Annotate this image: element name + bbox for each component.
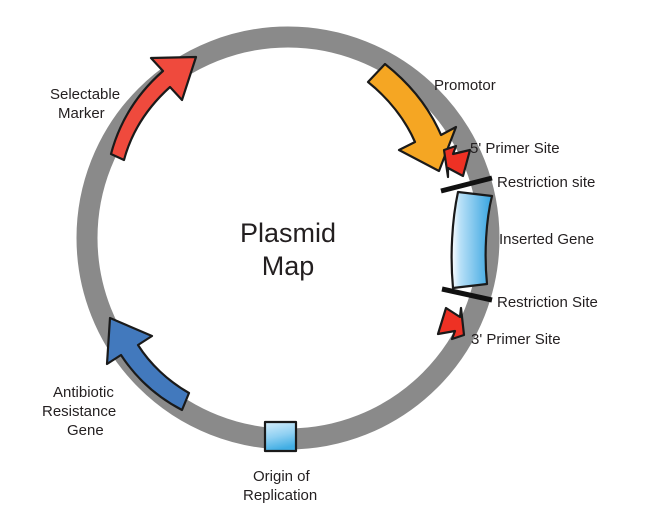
inserted-gene-label: Inserted Gene (499, 231, 594, 248)
plasmid-map-figure: Plasmid Map Selectable Marker Promotor 5… (0, 0, 650, 519)
promotor-label: Promotor (434, 77, 496, 94)
selectable-marker-label-line1: Selectable (50, 86, 120, 103)
selectable-marker-label-line2: Marker (58, 105, 105, 122)
antibiotic-resistance-label-line3: Gene (67, 422, 104, 439)
restriction-site-upper-label: Restriction site (497, 174, 595, 191)
antibiotic-resistance-label-line1: Antibiotic (53, 384, 114, 401)
primer-site-5-label: 5' Primer Site (470, 140, 560, 157)
primer-site-3-label: 3' Primer Site (471, 331, 561, 348)
page-title-line1: Plasmid (240, 218, 336, 248)
restriction-site-lower-label: Restriction Site (497, 294, 598, 311)
origin-of-replication-label-line2: Replication (243, 487, 317, 504)
antibiotic-resistance-label-line2: Resistance (42, 403, 116, 420)
inserted-gene-band[interactable] (452, 192, 492, 288)
page-title-line2: Map (262, 251, 315, 281)
feature-inserted-gene[interactable] (452, 192, 492, 288)
origin-of-replication-label-line1: Origin of (253, 468, 311, 485)
origin-of-replication-box[interactable] (265, 422, 296, 451)
